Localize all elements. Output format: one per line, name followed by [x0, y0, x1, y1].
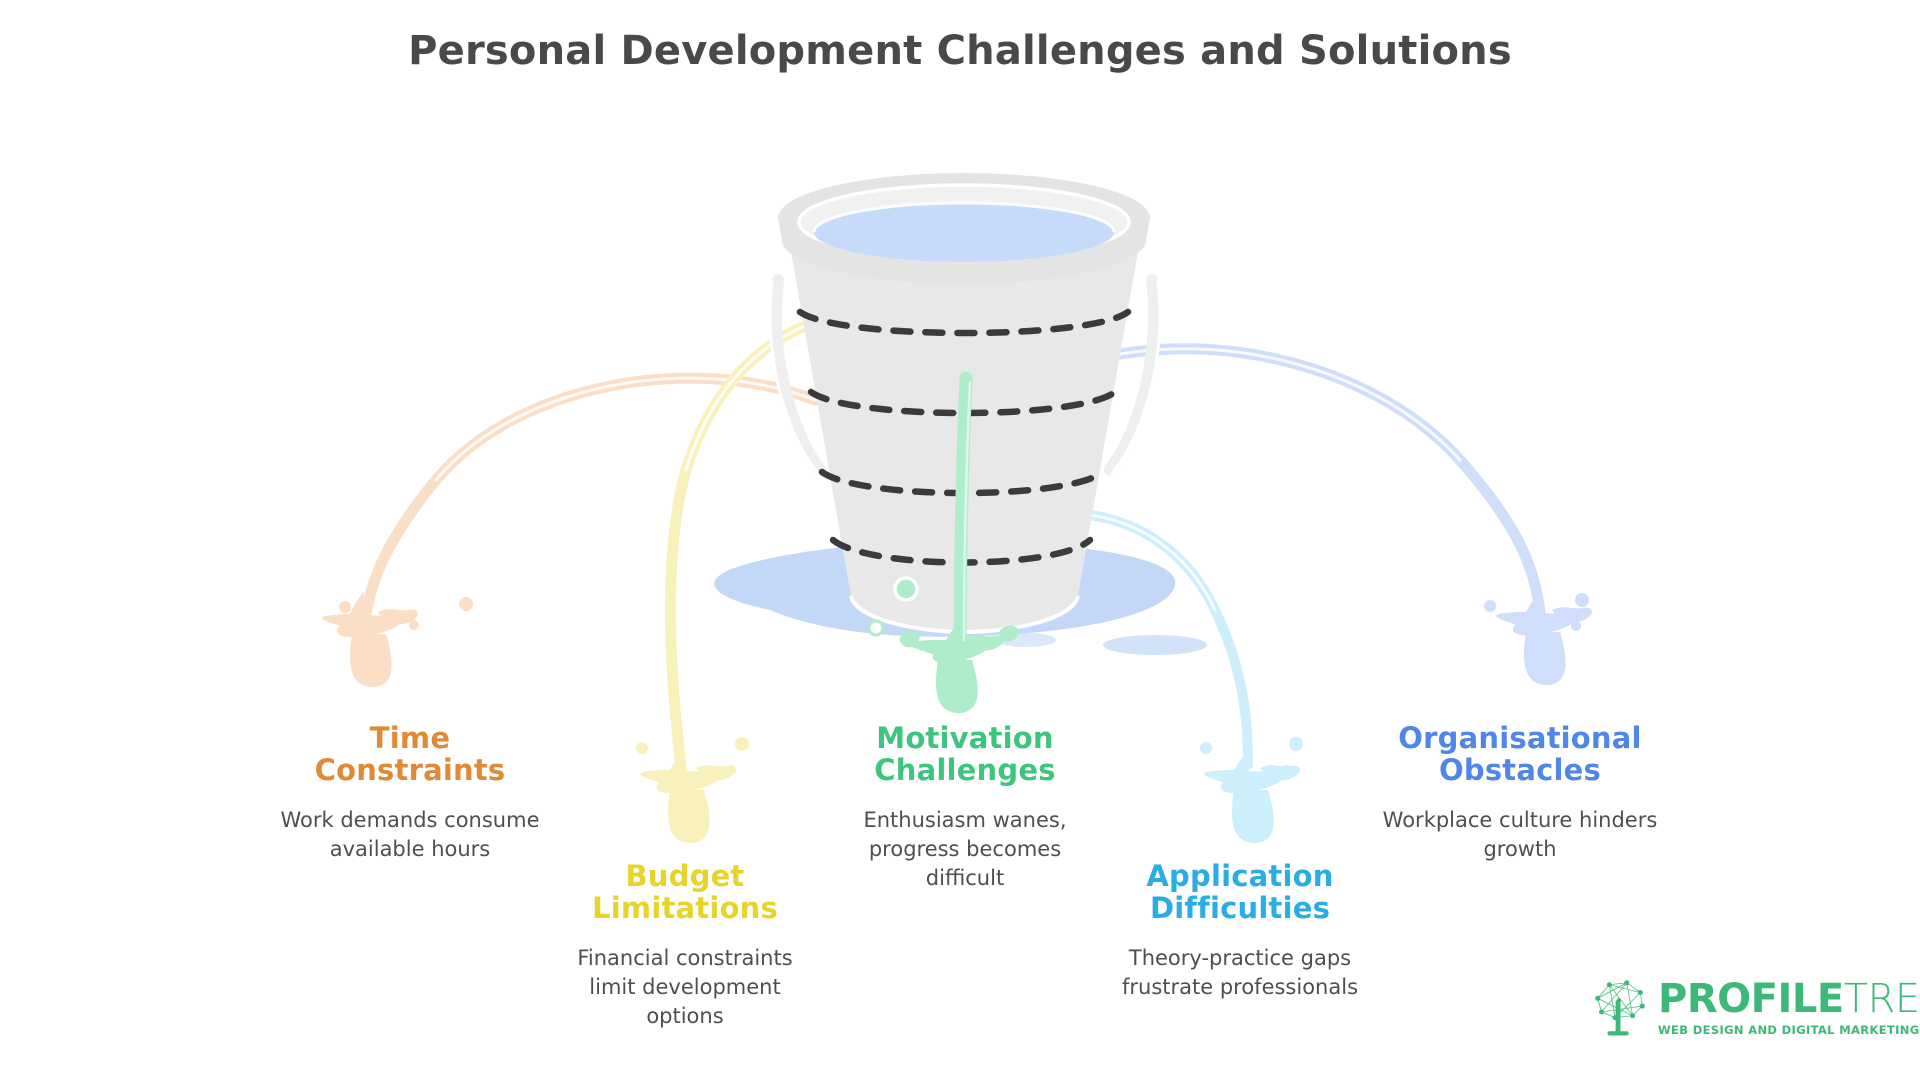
- challenge-description: Theory-practice gaps frustrate professio…: [1110, 944, 1370, 1002]
- logo-tagline: WEB DESIGN AND DIGITAL MARKETING: [1658, 1023, 1920, 1037]
- challenge-heading-line-1: Application: [1146, 859, 1333, 893]
- motivation-challenges-stream: [960, 378, 970, 660]
- challenge-heading-line-2: Limitations: [592, 891, 778, 925]
- challenge-heading: Application Difficulties: [1110, 860, 1370, 925]
- motivation-challenges-splash: [900, 622, 1018, 713]
- challenge-heading-line-1: Motivation: [876, 721, 1053, 755]
- challenge-heading-line-1: Organisational: [1398, 721, 1641, 755]
- bucket: [770, 173, 1160, 635]
- logo-wordmark: PROFILETREE: [1658, 979, 1920, 1019]
- challenge-motivation-challenges: Motivation Challenges Enthusiasm wanes, …: [835, 722, 1095, 893]
- leaking-bucket-illustration: [0, 0, 1920, 1080]
- time-constraints-stream: [364, 378, 815, 630]
- budget-limitations-stream: [671, 310, 900, 790]
- organisational-obstacles-stream: [1075, 349, 1540, 612]
- time-constraints-splash: [322, 592, 473, 687]
- challenge-time-constraints: Time Constraints Work demands consume av…: [280, 722, 540, 864]
- challenge-description: Financial constraints limit development …: [555, 944, 815, 1031]
- network-tree-icon: [1588, 977, 1650, 1039]
- challenge-description: Workplace culture hinders growth: [1375, 806, 1665, 864]
- challenge-heading-line-1: Time: [370, 721, 450, 755]
- logo-text-block: PROFILETREE WEB DESIGN AND DIGITAL MARKE…: [1658, 979, 1920, 1037]
- infographic-canvas: Personal Development Challenges and Solu…: [0, 0, 1920, 1080]
- challenge-application-difficulties: Application Difficulties Theory-practice…: [1110, 860, 1370, 1002]
- challenge-heading-line-2: Difficulties: [1150, 891, 1330, 925]
- challenge-heading: Budget Limitations: [555, 860, 815, 925]
- challenge-heading: Organisational Obstacles: [1375, 722, 1665, 787]
- challenge-heading: Time Constraints: [280, 722, 540, 787]
- challenge-heading-line-2: Obstacles: [1439, 753, 1601, 787]
- challenge-organisational-obstacles: Organisational Obstacles Workplace cultu…: [1375, 722, 1665, 864]
- bucket-puddle: [714, 542, 1207, 655]
- challenge-heading: Motivation Challenges: [835, 722, 1095, 787]
- page-title: Personal Development Challenges and Solu…: [0, 28, 1920, 74]
- profiletree-logo[interactable]: PROFILETREE WEB DESIGN AND DIGITAL MARKE…: [1588, 972, 1898, 1044]
- application-difficulties-splash: [1200, 737, 1303, 843]
- challenge-description: Work demands consume available hours: [280, 806, 540, 864]
- challenge-heading-line-2: Challenges: [874, 753, 1055, 787]
- challenge-budget-limitations: Budget Limitations Financial constraints…: [555, 860, 815, 1031]
- challenge-description: Enthusiasm wanes, progress becomes diffi…: [835, 806, 1095, 893]
- budget-limitations-splash: [636, 737, 749, 843]
- organisational-obstacles-splash: [1484, 592, 1592, 685]
- logo-word-tree: TREE: [1844, 979, 1920, 1019]
- logo-word-profile: PROFILE: [1658, 979, 1844, 1019]
- challenge-heading-line-1: Budget: [626, 859, 745, 893]
- challenge-heading-line-2: Constraints: [315, 753, 506, 787]
